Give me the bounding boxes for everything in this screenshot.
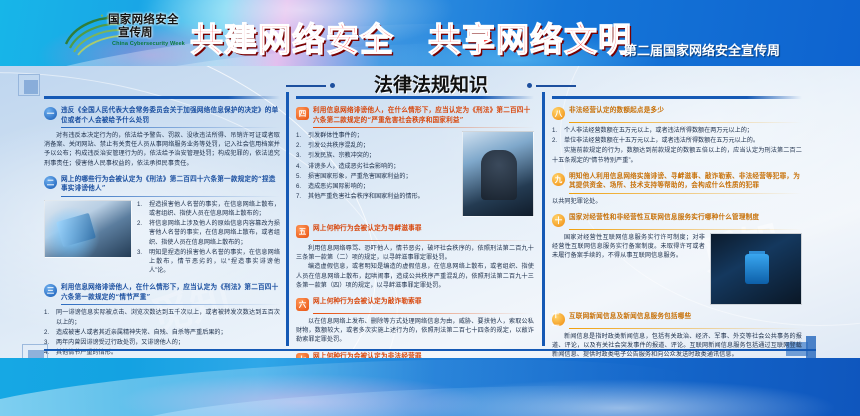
article-heading-row: 二 网上的哪些行为会被认定为《刑法》第二百四十六条第一款规定的“捏造事实诽谤他人… — [44, 175, 280, 194]
column-middle-topbar — [296, 96, 534, 99]
band-line-right — [536, 85, 576, 87]
article-item: 一 违反《全国人民代表大会常务委员会关于加强网络信息保护的决定》的单位或者个人会… — [44, 106, 280, 168]
poster-banner: 国家网络安全 宣传周 China Cybersecurity Week 共建网络… — [0, 0, 860, 66]
heading-underline — [569, 229, 802, 230]
list-item-text: 明知是捏造的损害他人名誉的事实，在信息网络上散布，情节恶劣的，以“捏造事实诽谤他… — [149, 249, 280, 274]
article-heading: 网上何种行为会被认定为敲诈勒索罪 — [313, 297, 422, 307]
article-heading-row: 六 网上何种行为会被认定为敲诈勒索罪 — [296, 297, 534, 311]
article-item: 四 利用信息网络诽谤他人，在什么情形下，应当认定为《刑法》第二百四十六条第二款规… — [296, 106, 534, 217]
poster-sub-title: 第二届国家网络安全宣传周 — [624, 40, 780, 59]
section-title: 法律法规知识 — [286, 70, 576, 97]
article-heading: 违反《全国人民代表大会常务委员会关于加强网络信息保护的决定》的单位或者个人会被给… — [61, 106, 280, 125]
national-cybersecurity-week-logo: 国家网络安全 宣传周 China Cybersecurity Week — [62, 12, 206, 60]
list-item: 2.引发公共秩序混乱的； — [296, 141, 457, 150]
article-number-badge: 八 — [552, 107, 565, 120]
deco-square-6 — [806, 336, 816, 358]
heading-underline — [313, 240, 534, 241]
article-heading: 利用信息网络诽谤他人，在什么情形下，应当认定为《刑法》第二百四十六条第二款规定的… — [313, 106, 534, 125]
list-item: 1.同一诽谤信息实际被点击、浏览次数达到五千次以上，或者被转发次数达到五百次以上… — [44, 308, 280, 326]
list-item-text: 个人非法经营数额在五万元以上，或者违法所得数额在两万元以上的； — [564, 127, 753, 134]
article-number-badge: 一 — [44, 107, 57, 120]
list-item: 2.造成被害人或者其近亲属精神失常、自残、自杀等严重后果的； — [44, 328, 280, 337]
numbered-list: 1.个人非法经营数额在五万元以上，或者违法所得数额在两万元以上的； 2.单位非法… — [552, 126, 802, 145]
article-number-badge: 十 — [552, 214, 565, 227]
heading-underline — [569, 193, 802, 194]
list-item-text: 造成恶劣国际影响的； — [308, 183, 369, 190]
article-item: 二 网上的哪些行为会被认定为《刑法》第二百四十六条第一款规定的“捏造事实诽谤他人… — [44, 175, 280, 277]
poster-main-title: 共建网络安全 共享网络文明 — [190, 13, 632, 61]
list-item: 3.两年内曾因诽谤受过行政处罚，又诽谤他人的； — [44, 338, 280, 347]
article-paragraph: 国家对经营性互联网信息服务实行许可制度；对非经营性互联网信息服务实行备案制度。未… — [552, 233, 705, 261]
section-title-band: 法律法规知识 — [286, 70, 576, 98]
list-item-text: 将信息网络上涉及他人的原始信息内容篡改为损害他人名誉的事实，在信息网络上散布，或… — [149, 220, 280, 245]
band-dot-right — [527, 83, 532, 88]
article-paragraph: 以在信息网络上发布、删除等方式处理网络信息为由，威胁、要挟他人，索取公私财物，数… — [296, 317, 534, 345]
list-item-text: 同一诽谤信息实际被点击、浏览次数达到五千次以上，或者被转发次数达到五百次以上的； — [56, 309, 280, 325]
list-item: 4.诽谤多人，造成恶劣社会影响的； — [296, 162, 457, 171]
heading-underline — [569, 328, 802, 329]
business-hand-tablet-photo — [44, 200, 132, 258]
article-paragraph: 对有违反本决定行为的，依法给予警告、罚款、没收违法所得、吊销许可证或者取消备案、… — [44, 131, 280, 168]
article-number-badge: 十一 — [552, 313, 565, 326]
list-item-text: 引发民族、宗教冲突的； — [308, 152, 375, 159]
list-item: 6.造成恶劣国际影响的； — [296, 182, 457, 191]
article-heading: 网上何种行为会被认定为寻衅滋事罪 — [313, 224, 422, 234]
article-body: 1.引发群体性事件的； 2.引发公共秩序混乱的； 3.引发民族、宗教冲突的； 4… — [296, 131, 457, 202]
list-item: 3.明知是捏造的损害他人名誉的事实，在信息网络上散布，情节恶劣的，以“捏造事实诽… — [137, 248, 280, 276]
article-heading: 非法经营认定的数额起点是多少 — [569, 106, 664, 116]
article-body: 国家对经营性互联网信息服务实行许可制度；对非经营性互联网信息服务实行备案制度。未… — [552, 233, 705, 261]
list-item: 2.单位非法经营数额在十五万元以上，或者违法所得数额在五万元以上的。 — [552, 136, 802, 145]
list-item-text: 诽谤多人，造成恶劣社会影响的； — [308, 163, 399, 170]
article-heading: 利用信息网络诽谤他人，在什么情形下，应当认定为《刑法》第二百四十六条第一款规定的… — [61, 283, 280, 302]
deco-square-4 — [28, 350, 44, 358]
article-item: 九 明知他人利用信息网络实施诽谤、寻衅滋事、敲诈勒索、非法经营等犯罪，为其提供资… — [552, 172, 802, 206]
article-heading-row: 五 网上何种行为会被认定为寻衅滋事罪 — [296, 224, 534, 238]
article-number-badge: 四 — [296, 107, 309, 120]
list-item-text: 损害国家形象，严重危害国家利益的； — [308, 173, 412, 180]
article-number-badge: 三 — [44, 284, 57, 297]
list-item: 2.将信息网络上涉及他人的原始信息内容篡改为损害他人名誉的事实，在信息网络上散布… — [137, 219, 280, 247]
list-item-text: 造成被害人或者其近亲属精神失常、自残、自杀等严重后果的； — [56, 329, 227, 336]
list-item: 7.其他严重危害社会秩序和国家利益的情形。 — [296, 192, 457, 201]
heading-underline — [61, 127, 280, 128]
list-item-text: 单位非法经营数额在十五万元以上，或者违法所得数额在五万元以上的。 — [564, 137, 759, 144]
list-item: 1.捏造损害他人名誉的事实，在信息网络上散布，或者组织、指使人员在信息网络上散布… — [137, 200, 280, 218]
list-item-text: 其他严重危害社会秩序和国家利益的情形。 — [308, 193, 424, 200]
heading-underline — [313, 127, 534, 128]
list-item: 1.引发群体性事件的； — [296, 131, 457, 140]
article-item: 十一 互联网新闻信息及新闻信息服务包括哪些 新闻信息是指时政类新闻信息，包括有关… — [552, 312, 802, 358]
article-heading: 国家对经营性和非经营性互联网信息服务实行哪种什么管理制度 — [569, 213, 759, 223]
column-right: 八 非法经营认定的数额起点是多少 1.个人非法经营数额在五万元以上，或者违法所得… — [552, 96, 802, 358]
column-divider-right — [542, 92, 545, 346]
heading-underline — [61, 196, 280, 197]
list-item-text: 引发公共秩序混乱的； — [308, 142, 369, 149]
article-heading-row: 九 明知他人利用信息网络实施诽谤、寻衅滋事、敲诈勒索、非法经营等犯罪，为其提供资… — [552, 172, 802, 191]
column-left: 一 违反《全国人民代表大会常务委员会关于加强网络信息保护的决定》的单位或者个人会… — [44, 96, 280, 358]
article-number-badge: 六 — [296, 298, 309, 311]
heading-underline — [569, 122, 802, 123]
article-heading: 网上的哪些行为会被认定为《刑法》第二百四十六条第一款规定的“捏造事实诽谤他人” — [61, 175, 280, 194]
numbered-list: 1.捏造损害他人名誉的事实，在信息网络上散布，或者组织、指使人员在信息网络上散布… — [137, 200, 280, 276]
list-item: 3.引发民族、宗教冲突的； — [296, 151, 457, 160]
heading-underline — [313, 313, 534, 314]
list-item-text: 捏造损害他人名誉的事实，在信息网络上散布，或者组织、指使人员在信息网络上散布的； — [149, 201, 280, 217]
column-right-topbar — [552, 96, 802, 99]
board-bottom-rule — [44, 349, 816, 351]
article-heading-row: 四 利用信息网络诽谤他人，在什么情形下，应当认定为《刑法》第二百四十六条第二款规… — [296, 106, 534, 125]
column-middle: 四 利用信息网络诽谤他人，在什么情形下，应当认定为《刑法》第二百四十六条第二款规… — [296, 96, 534, 358]
column-left-topbar — [44, 96, 280, 99]
text-with-image: 国家对经营性互联网信息服务实行许可制度；对非经营性互联网信息服务实行备案制度。未… — [552, 233, 802, 305]
article-heading-row: 十一 互联网新闻信息及新闻信息服务包括哪些 — [552, 312, 802, 326]
text-with-image: 1.引发群体性事件的； 2.引发公共秩序混乱的； 3.引发民族、宗教冲突的； 4… — [296, 131, 534, 217]
article-paragraph: 以共同犯罪论处。 — [552, 197, 802, 206]
article-number-badge: 五 — [296, 225, 309, 238]
article-number-badge: 二 — [44, 176, 57, 189]
article-item: 三 利用信息网络诽谤他人，在什么情形下，应当认定为《刑法》第二百四十六条第一款规… — [44, 283, 280, 357]
article-item: 六 网上何种行为会被认定为敲诈勒索罪 以在信息网络上发布、删除等方式处理网络信息… — [296, 297, 534, 345]
article-heading: 互联网新闻信息及新闻信息服务包括哪些 — [569, 312, 691, 322]
article-heading-row: 十 国家对经营性和非经营性互联网信息服务实行哪种什么管理制度 — [552, 213, 802, 227]
article-paragraph: 新闻信息是指时政类新闻信息，包括有关政治、经济、军事、外交等社会公共事务的报道、… — [552, 332, 802, 358]
article-paragraph: 利用信息网络辱骂、恐吓他人，情节恶劣，破坏社会秩序的，依照刑法第二百九十三条第一… — [296, 244, 534, 262]
poster-body: 觅知 觅知 法律法规知识 一 违反《全国人民代表大会常务委员会关于加强网络信息保… — [0, 66, 860, 358]
article-number-badge: 九 — [552, 173, 565, 186]
numbered-list: 1.引发群体性事件的； 2.引发公共秩序混乱的； 3.引发民族、宗教冲突的； 4… — [296, 131, 457, 201]
article-body: 1.捏造损害他人名誉的事实，在信息网络上散布，或者组织、指使人员在信息网络上散布… — [137, 200, 280, 277]
column-divider-left — [286, 92, 289, 346]
list-item-text: 引发群体性事件的； — [308, 132, 363, 139]
article-heading-row: 三 利用信息网络诽谤他人，在什么情形下，应当认定为《刑法》第二百四十六条第一款规… — [44, 283, 280, 302]
poster-footer — [0, 358, 860, 416]
article-heading-row: 八 非法经营认定的数额起点是多少 — [552, 106, 802, 120]
text-with-image: 1.捏造损害他人名誉的事实，在信息网络上散布，或者组织、指使人员在信息网络上散布… — [44, 200, 280, 277]
list-item: 1.个人非法经营数额在五万元以上，或者违法所得数额在两万元以上的； — [552, 126, 802, 135]
list-item: 5.损害国家形象，严重危害国家利益的； — [296, 172, 457, 181]
list-item-text: 两年内曾因诽谤受过行政处罚，又诽谤他人的； — [56, 339, 184, 346]
hand-lock-security-photo — [710, 233, 802, 305]
article-paragraph: 实施前款规定的行为，数额达到前款规定的数额五倍以上的，应当认定为刑法第二百二十五… — [552, 146, 802, 164]
article-heading: 明知他人利用信息网络实施诽谤、寻衅滋事、敲诈勒索、非法经营等犯罪，为其提供资金、… — [569, 172, 802, 191]
deco-square-2 — [24, 80, 38, 94]
article-item: 八 非法经营认定的数额起点是多少 1.个人非法经营数额在五万元以上，或者违法所得… — [552, 106, 802, 165]
article-item: 五 网上何种行为会被认定为寻衅滋事罪 利用信息网络辱骂、恐吓他人，情节恶劣，破坏… — [296, 224, 534, 290]
heading-underline — [61, 304, 280, 305]
article-heading-row: 一 违反《全国人民代表大会常务委员会关于加强网络信息保护的决定》的单位或者个人会… — [44, 106, 280, 125]
article-paragraph: 编造虚假信息，或者明知是编造的虚假信息，在信息网络上散布，或者组织、指使人员在信… — [296, 262, 534, 290]
businessman-data-screen-photo — [462, 131, 534, 217]
article-item: 十 国家对经营性和非经营性互联网信息服务实行哪种什么管理制度 国家对经营性互联网… — [552, 213, 802, 305]
